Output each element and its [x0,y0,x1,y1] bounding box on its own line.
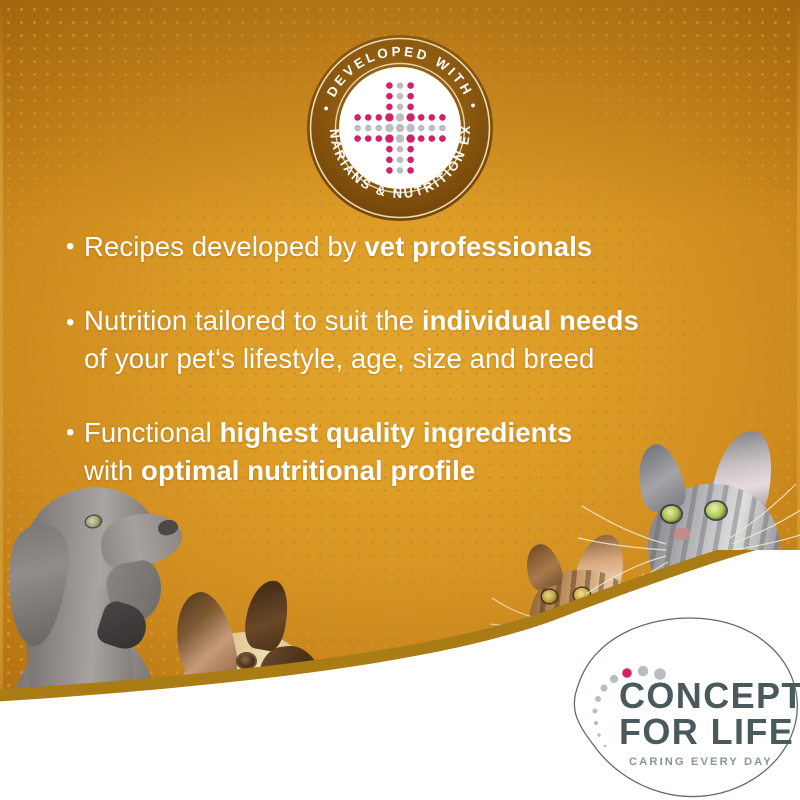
logo-tagline: CARING EVERY DAY [629,756,773,768]
cross-dot-pink [386,93,393,100]
bullet-line: Nutrition tailored to suit the individua… [84,302,762,340]
cross-dot-pink [354,135,361,142]
cross-dot-grey [354,125,361,132]
cross-dot-grey [397,104,404,111]
cross-dot-pink [406,134,414,142]
cross-dot-grey [439,125,446,132]
cross-dot-pink [439,135,446,142]
bullet-segment: Recipes developed by [84,231,364,262]
cross-dot-pink [365,135,372,142]
logo-dot [597,733,600,736]
cross-dot-pink [385,113,393,121]
cross-dot-pink [418,114,425,121]
cross-dot-pink [376,114,383,121]
cross-dot-pink [407,104,414,111]
cross-dot-pink [386,167,393,174]
concept-for-life-logo[interactable]: CONCEPT FOR LIFE CARING EVERY DAY [561,613,800,800]
cross-dot-grey [406,124,414,132]
list-item: • Functional highest quality ingredients… [62,414,762,490]
bullet-line: Recipes developed by vet professionals [84,228,762,266]
bullet-marker: • [62,414,84,452]
logo-dot [610,675,618,683]
logo-dot [604,745,607,748]
bullet-segment: with [84,455,141,486]
promo-poster: • DEVELOPED WITH • VETERINARIANS & NUTRI… [0,0,800,800]
bullet-segment-bold: individual needs [422,305,639,336]
developed-with-veterinarians-seal: • DEVELOPED WITH • VETERINARIANS & NUTRI… [306,34,494,222]
bullet-line: Functional highest quality ingredients [84,414,762,452]
logo-line-2: FOR LIFE [619,711,794,752]
cross-dot-pink [386,146,393,153]
bullet-segment: Nutrition tailored to suit the [84,305,422,336]
cross-dot-grey [385,124,393,132]
bullet-segment: of your pet‘s lifestyle, age, size and b… [84,343,594,374]
bullet-segment-bold: optimal nutritional profile [141,455,475,486]
bullet-text-recipes: Recipes developed by vet professionals [84,228,762,266]
cross-dot-pink [407,157,414,164]
logo-dot [601,685,608,692]
cross-dot-grey [397,167,404,174]
bullet-line: with optimal nutritional profile [84,452,762,490]
bullet-segment: Functional [84,417,220,448]
cross-dot-pink [429,135,436,142]
logo-dot [595,696,601,702]
cross-dot-pink [376,135,383,142]
cross-dot-pink [418,135,425,142]
cross-dot-pink [407,146,414,153]
cross-dot-pink [365,114,372,121]
logo-dot [594,721,598,725]
cross-dot-grey [397,146,404,153]
cross-dot-grey [365,125,372,132]
list-item: • Recipes developed by vet professionals [62,228,762,266]
bullet-segment-bold: highest quality ingredients [220,417,573,448]
bullet-segment-bold: vet professionals [364,231,592,262]
cross-dot-pink [439,114,446,121]
cross-dot-pink [386,104,393,111]
cross-dot-grey [396,134,404,142]
cross-dot-grey [397,157,404,164]
list-item: • Nutrition tailored to suit the individ… [62,304,762,378]
cross-dot-pink [386,157,393,164]
cross-dot-pink [407,93,414,100]
logo-dot [593,709,598,714]
cross-dot-grey [376,125,383,132]
cross-dot-pink [385,134,393,142]
cross-dot-grey [397,93,404,100]
bullet-marker: • [62,304,84,342]
cross-dot-pink [407,167,414,174]
cross-dot-grey [418,125,425,132]
cross-dot-pink [429,114,436,121]
cross-dot-pink [407,82,414,89]
bullet-text-nutrition: Nutrition tailored to suit the individua… [84,302,762,378]
benefit-bullet-list: • Recipes developed by vet professionals… [62,228,762,490]
cross-dot-grey [396,113,404,121]
cross-dot-pink [354,114,361,121]
bullet-text-functional: Functional highest quality ingredients w… [84,414,762,490]
bullet-marker: • [62,228,84,266]
logo-line-1: CONCEPT [619,675,800,716]
bullet-line: of your pet‘s lifestyle, age, size and b… [84,340,762,378]
cross-dot-pink [406,113,414,121]
cross-dot-pink [386,82,393,89]
cross-dot-grey [396,124,404,132]
cross-dot-grey [397,82,404,89]
cross-dot-grey [429,125,436,132]
